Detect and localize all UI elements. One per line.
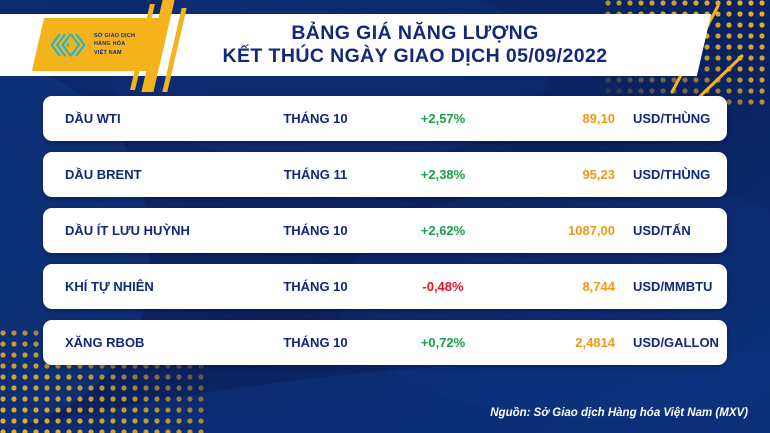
logo-text: SỞ GIAO DỊCH HÀNG HÓA VIỆT NAM (94, 32, 135, 56)
table-row: KHÍ TỰ NHIÊNTHÁNG 10-0,48%8,744USD/MMBTU (43, 264, 727, 309)
title-line-2: KẾT THÚC NGÀY GIAO DỊCH 05/09/2022 (223, 45, 608, 68)
price-unit: USD/MMBTU (615, 279, 727, 294)
commodity-name: DẦU WTI (43, 111, 248, 126)
change-percent: +0,72% (383, 335, 503, 350)
contract-month: THÁNG 10 (248, 111, 383, 126)
price-value: 89,10 (503, 111, 615, 126)
table-row: DẦU BRENTTHÁNG 11+2,38%95,23USD/THÙNG (43, 152, 727, 197)
price-unit: USD/GALLON (615, 335, 727, 350)
logo-line-1: SỞ GIAO DỊCH (94, 32, 135, 40)
price-value: 95,23 (503, 167, 615, 182)
source-note: Nguồn: Sở Giao dịch Hàng hóa Việt Nam (M… (490, 407, 748, 419)
table-row: DẦU ÍT LƯU HUỲNHTHÁNG 10+2,62%1087,00USD… (43, 208, 727, 253)
contract-month: THÁNG 10 (248, 335, 383, 350)
contract-month: THÁNG 10 (248, 279, 383, 294)
change-percent: +2,57% (383, 111, 503, 126)
contract-month: THÁNG 10 (248, 223, 383, 238)
price-unit: USD/THÙNG (615, 167, 727, 182)
page-title: BẢNG GIÁ NĂNG LƯỢNG KẾT THÚC NGÀY GIAO D… (200, 14, 630, 76)
table-row: DẦU WTITHÁNG 10+2,57%89,10USD/THÙNG (43, 96, 727, 141)
change-percent: -0,48% (383, 279, 503, 294)
header: SỞ GIAO DỊCH HÀNG HÓA VIỆT NAM BẢNG GIÁ … (0, 0, 770, 92)
title-line-1: BẢNG GIÁ NĂNG LƯỢNG (291, 22, 538, 45)
price-value: 1087,00 (503, 223, 615, 238)
contract-month: THÁNG 11 (248, 167, 383, 182)
logo-line-3: VIỆT NAM (94, 49, 135, 57)
logo-line-2: HÀNG HÓA (94, 40, 135, 48)
table-row: XĂNG RBOBTHÁNG 10+0,72%2,4814USD/GALLON (43, 320, 727, 365)
commodity-name: DẦU ÍT LƯU HUỲNH (43, 223, 248, 238)
price-value: 8,744 (503, 279, 615, 294)
mxv-logo-mark (48, 30, 88, 60)
change-percent: +2,38% (383, 167, 503, 182)
commodity-name: KHÍ TỰ NHIÊN (43, 279, 248, 294)
price-unit: USD/TẤN (615, 223, 727, 238)
price-table: DẦU WTITHÁNG 10+2,57%89,10USD/THÙNGDẦU B… (0, 96, 770, 376)
price-value: 2,4814 (503, 335, 615, 350)
commodity-name: XĂNG RBOB (43, 335, 248, 350)
price-unit: USD/THÙNG (615, 111, 727, 126)
commodity-name: DẦU BRENT (43, 167, 248, 182)
change-percent: +2,62% (383, 223, 503, 238)
